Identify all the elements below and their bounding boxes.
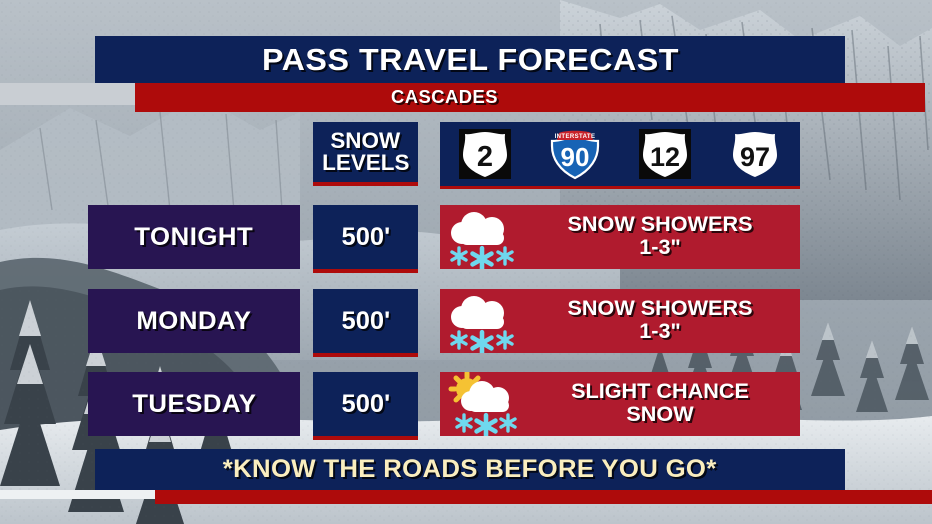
us-97-shield: 97 — [727, 128, 783, 180]
footer-banner: *KNOW THE ROADS BEFORE YOU GO* — [95, 449, 845, 490]
us-2-number: 2 — [477, 141, 493, 173]
condition-line-2: 1-3" — [522, 321, 798, 344]
day-label: TUESDAY — [132, 390, 256, 419]
condition-box: SNOW SHOWERS 1-3" — [440, 205, 800, 269]
condition-text: SNOW SHOWERS 1-3" — [526, 214, 800, 259]
page-title: PASS TRAVEL FORECAST — [261, 42, 678, 78]
condition-text: SLIGHT CHANCE SNOW — [526, 381, 800, 426]
snow-showers-icon — [440, 205, 526, 269]
interstate-90-shield: INTERSTATE 90 — [547, 128, 603, 180]
snow-level-box: 500' — [313, 372, 418, 436]
snow-levels-label-line2: LEVELS — [322, 152, 409, 174]
forecast-row: TONIGHT 500' — [0, 205, 932, 269]
condition-line-1: SNOW SHOWERS — [522, 298, 798, 321]
condition-line-1: SLIGHT CHANCE — [522, 381, 798, 404]
us-12-shield: 12 — [637, 128, 693, 180]
snow-levels-header-rule — [313, 182, 418, 186]
forecast-row: MONDAY 500' — [0, 289, 932, 353]
condition-box: SNOW SHOWERS 1-3" — [440, 289, 800, 353]
snow-level-value: 500' — [341, 390, 390, 419]
day-label: TONIGHT — [134, 223, 253, 252]
snow-levels-header: SNOW LEVELS — [313, 122, 418, 182]
interstate-90-number: 90 — [561, 142, 590, 172]
route-shields-rule — [440, 186, 800, 189]
snow-showers-icon — [440, 289, 526, 353]
condition-line-2: SNOW — [522, 404, 798, 427]
subtitle-bar: CASCADES — [135, 83, 925, 112]
day-label-box: TUESDAY — [88, 372, 300, 436]
snow-level-box: 500' — [313, 289, 418, 353]
forecast-row: TUESDAY 500' — [0, 372, 932, 436]
condition-line-2: 1-3" — [522, 237, 798, 260]
snow-level-value: 500' — [341, 307, 390, 336]
us-12-number: 12 — [650, 142, 680, 172]
snow-level-rule — [313, 269, 418, 273]
snow-level-rule — [313, 436, 418, 440]
snow-level-value: 500' — [341, 223, 390, 252]
snow-level-box: 500' — [313, 205, 418, 269]
forecast-title-bar: PASS TRAVEL FORECAST — [95, 36, 845, 83]
region-subtitle: CASCADES — [391, 87, 498, 108]
snow-levels-label-line1: SNOW — [331, 130, 401, 152]
day-label-box: MONDAY — [88, 289, 300, 353]
route-shields-bar: 2 INTERSTATE 90 12 97 — [440, 122, 800, 186]
us-97-number: 97 — [740, 142, 770, 172]
condition-text: SNOW SHOWERS 1-3" — [526, 298, 800, 343]
interstate-banner-text: INTERSTATE — [555, 134, 596, 140]
us-2-shield: 2 — [457, 128, 513, 180]
footer-red-bar — [155, 490, 932, 504]
condition-box: SLIGHT CHANCE SNOW — [440, 372, 800, 436]
snow-level-rule — [313, 353, 418, 357]
sun-cloud-snow-icon — [440, 372, 526, 436]
title-grey-tab — [0, 83, 135, 105]
footer-message: *KNOW THE ROADS BEFORE YOU GO* — [223, 455, 717, 484]
day-label: MONDAY — [136, 307, 251, 336]
day-label-box: TONIGHT — [88, 205, 300, 269]
condition-line-1: SNOW SHOWERS — [522, 214, 798, 237]
